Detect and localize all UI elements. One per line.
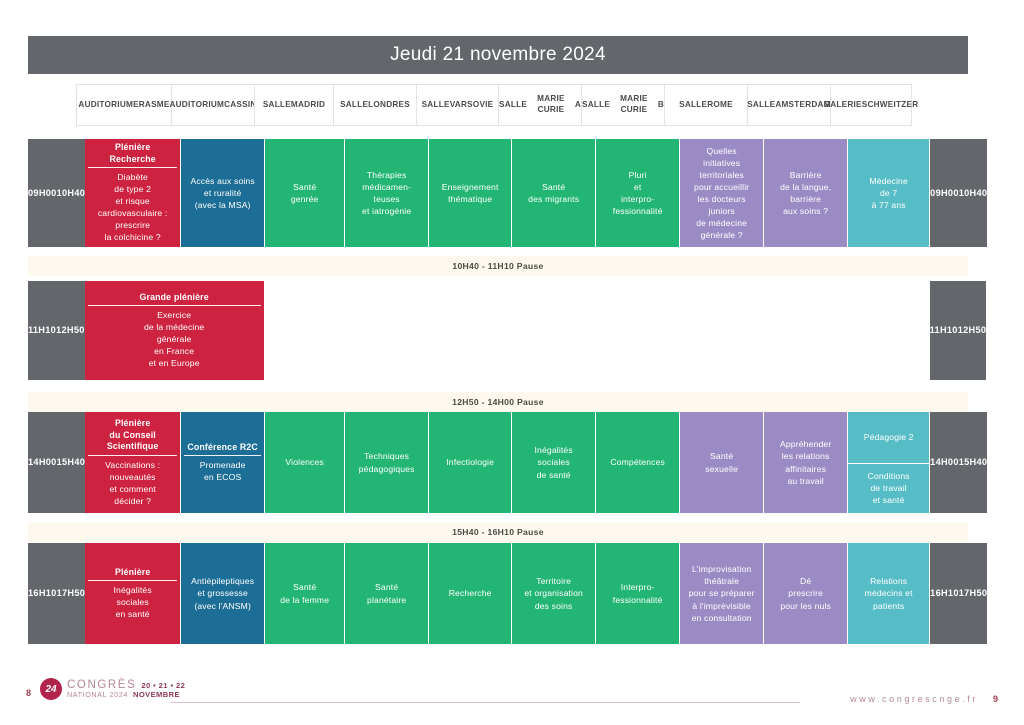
session-content: Infectiologie	[432, 456, 508, 468]
session-title: Interpro-fessionnalité	[599, 581, 676, 605]
session-cell[interactable]: Relationsmédecins etpatients	[848, 543, 930, 644]
room-header-line: AUDITORIUM	[78, 100, 133, 111]
session-cell-empty	[680, 281, 764, 380]
time-label-right: 11H1012H50	[930, 281, 987, 380]
session-content: Quellesinitiativesterritorialespour accu…	[683, 145, 760, 241]
session-title: Diabètede type 2et risquecardiovasculair…	[88, 171, 177, 243]
session-cell[interactable]: Santéde la femme	[265, 543, 345, 644]
session-content: Conférence R2CPromenadeen ECOS	[184, 442, 261, 483]
time-start: 11H10	[930, 324, 958, 336]
time-start: 09H00	[28, 187, 57, 199]
session-content: Territoireet organisationdes soins	[515, 575, 592, 611]
session-cell[interactable]: Plénièredu ConseilScientifiqueVaccinatio…	[85, 412, 181, 513]
room-header-line: CASSIN	[224, 100, 256, 111]
session-title: Recherche	[432, 587, 508, 599]
time-label-right: 09H0010H40	[930, 139, 987, 247]
footer-divider	[170, 702, 800, 703]
schedule-row-3: 14H0015H40Plénièredu ConseilScientifique…	[28, 412, 968, 513]
session-content: Thérapiesmédicamen-teuseset iatrogénie	[348, 169, 425, 217]
session-title: L'improvisationthéâtralepour se préparer…	[683, 563, 760, 623]
session-cell[interactable]: Infectiologie	[429, 412, 512, 513]
session-title: Territoireet organisationdes soins	[515, 575, 592, 611]
session-title: Pédagogie 2	[864, 431, 914, 443]
time-end: 15H40	[57, 456, 86, 468]
footer: 8 24 CONGRÈS 20 • 21 • 22 NATIONAL 2024 …	[0, 672, 1024, 725]
session-subcell[interactable]: Pédagogie 2	[848, 412, 929, 463]
website-link[interactable]: www.congrescnge.fr	[850, 694, 978, 704]
time-start: 11H10	[28, 324, 56, 336]
session-title: Plurietinterpro-fessionnalité	[599, 169, 676, 217]
session-content: Accès aux soinset ruralité(avec la MSA)	[184, 175, 261, 211]
room-header-2: AUDITORIUMCASSIN	[171, 84, 255, 126]
session-title: Antiépileptiqueset grossesse(avec l'ANSM…	[184, 575, 261, 611]
room-header-line: SALLE	[263, 100, 291, 111]
time-end: 10H40	[959, 187, 988, 199]
session-title: Santéplanétaire	[348, 581, 425, 605]
session-cell-empty	[764, 281, 848, 380]
session-title: Violences	[268, 456, 341, 468]
session-title: Médecinede 7à 77 ans	[851, 175, 926, 211]
session-cell[interactable]: Inégalitéssocialesde santé	[512, 412, 596, 513]
session-title: Compétences	[599, 456, 676, 468]
room-header-10: GALERIESCHWEITZER	[830, 84, 912, 126]
time-end: 17H50	[57, 587, 86, 599]
session-title: Enseignementthématique	[432, 181, 508, 205]
page-number-right: 9	[993, 694, 998, 704]
room-header-3: SALLEMADRID	[254, 84, 334, 126]
session-title: Accès aux soinset ruralité(avec la MSA)	[184, 175, 261, 211]
session-cell[interactable]: Antiépileptiqueset grossesse(avec l'ANSM…	[181, 543, 265, 644]
time-start: 16H10	[28, 587, 57, 599]
time-label-left: 14H0015H40	[28, 412, 85, 513]
session-content: Appréhenderles relationsaffinitairesau t…	[767, 438, 844, 486]
session-content: Antiépileptiqueset grossesse(avec l'ANSM…	[184, 575, 261, 611]
session-cell[interactable]: Compétences	[596, 412, 680, 513]
session-content: Recherche	[432, 587, 508, 599]
congress-logo: 24 CONGRÈS 20 • 21 • 22 NATIONAL 2024 NO…	[40, 678, 185, 700]
schedule-page: Jeudi 21 novembre 2024 AUDITORIUMERASMEA…	[0, 0, 1024, 725]
time-end: 17H50	[959, 587, 988, 599]
room-header-line: LONDRES	[368, 100, 410, 111]
session-content: Barrièrede la langue,barrièreaux soins ?	[767, 169, 844, 217]
session-title: Conditionsde travailet santé	[868, 470, 910, 506]
session-title: Promenadeen ECOS	[184, 459, 261, 483]
session-content: Relationsmédecins etpatients	[851, 575, 926, 611]
room-header-4: SALLELONDRES	[333, 84, 417, 126]
session-content: Santésexuelle	[683, 450, 760, 474]
schedule-row-1: 09H0010H40PlénièreRechercheDiabètede typ…	[28, 139, 968, 247]
session-cell-empty	[848, 281, 930, 380]
session-title: Thérapiesmédicamen-teuseset iatrogénie	[348, 169, 425, 217]
room-header-8: SALLEROME	[664, 84, 748, 126]
room-header-line: SALLE	[582, 100, 610, 111]
room-header-line: MARIE CURIE	[610, 94, 658, 116]
time-start: 09H00	[930, 187, 959, 199]
session-content: Grande plénièreExercicede la médecinegén…	[88, 292, 261, 370]
session-content: PlénièreInégalitéssocialesen santé	[88, 567, 177, 621]
session-content: PlénièreRechercheDiabètede type 2et risq…	[88, 142, 177, 243]
session-content: Santéplanétaire	[348, 581, 425, 605]
day-title-bar: Jeudi 21 novembre 2024	[28, 36, 968, 74]
session-cell[interactable]: Thérapiesmédicamen-teuseset iatrogénie	[345, 139, 429, 247]
session-cell-empty	[265, 281, 345, 380]
session-content: Enseignementthématique	[432, 181, 508, 205]
session-title: Techniquespédagogiques	[348, 450, 425, 474]
session-cell[interactable]: Techniquespédagogiques	[345, 412, 429, 513]
session-title: Santésexuelle	[683, 450, 760, 474]
session-content: Santédes migrants	[515, 181, 592, 205]
time-end: 10H40	[57, 187, 86, 199]
session-cell[interactable]: Enseignementthématique	[429, 139, 512, 247]
session-content: Déprescrirepour les nuls	[767, 575, 844, 611]
room-header-line: SCHWEITZER	[862, 100, 919, 111]
room-header-line: VARSOVIE	[450, 100, 494, 111]
session-cell[interactable]: Quellesinitiativesterritorialespour accu…	[680, 139, 764, 247]
session-title: Infectiologie	[432, 456, 508, 468]
session-cell[interactable]: Barrièrede la langue,barrièreaux soins ?	[764, 139, 848, 247]
room-header-5: SALLEVARSOVIE	[416, 84, 499, 126]
page-title: Jeudi 21 novembre 2024	[390, 44, 606, 66]
session-cell[interactable]: L'improvisationthéâtralepour se préparer…	[680, 543, 764, 644]
session-title: Relationsmédecins etpatients	[851, 575, 926, 611]
pause-label: 12H50 - 14H00 Pause	[452, 397, 544, 407]
session-type-label: Plénièredu ConseilScientifique	[88, 418, 177, 455]
session-cell-empty	[596, 281, 680, 380]
room-header-line: SALLE	[747, 100, 775, 111]
logo-month-label: NOVEMBRE	[133, 691, 180, 699]
session-cell[interactable]: Santégenrée	[265, 139, 345, 247]
session-cell[interactable]: Accès aux soinset ruralité(avec la MSA)	[181, 139, 265, 247]
session-title: Vaccinations :nouveautéset commentdécide…	[88, 459, 177, 507]
room-header-line: MARIE CURIE	[527, 94, 575, 116]
pause-label: 15H40 - 16H10 Pause	[452, 527, 544, 537]
session-cell[interactable]: Interpro-fessionnalité	[596, 543, 680, 644]
time-label-right: 16H1017H50	[930, 543, 987, 644]
page-number-left: 8	[26, 688, 31, 698]
room-header-line: AMSTERDAM	[775, 100, 830, 111]
session-content: Médecinede 7à 77 ans	[851, 175, 926, 211]
logo-national-label: NATIONAL 2024	[67, 691, 128, 699]
session-cell[interactable]: Conférence R2CPromenadeen ECOS	[181, 412, 265, 513]
room-header-line: GALERIE	[824, 100, 862, 111]
session-content: L'improvisationthéâtralepour se préparer…	[683, 563, 760, 623]
session-cell[interactable]: Pédagogie 2Conditionsde travailet santé	[848, 412, 930, 513]
session-cell-empty	[345, 281, 429, 380]
session-content: Violences	[268, 456, 341, 468]
time-end: 12H50	[56, 324, 85, 336]
session-content: Inégalitéssocialesde santé	[515, 444, 592, 480]
session-content: Plénièredu ConseilScientifiqueVaccinatio…	[88, 418, 177, 506]
session-cell[interactable]: Recherche	[429, 543, 512, 644]
room-header-line: AUDITORIUM	[169, 100, 224, 111]
session-content: Interpro-fessionnalité	[599, 581, 676, 605]
session-content: Compétences	[599, 456, 676, 468]
room-header-7: SALLEMARIE CURIEB	[581, 84, 665, 126]
session-title: Santédes migrants	[515, 181, 592, 205]
room-header-1: AUDITORIUMERASME	[76, 84, 172, 126]
session-title: Inégalitéssocialesde santé	[515, 444, 592, 480]
room-header-line: ERASME	[133, 100, 170, 111]
session-title: Quellesinitiativesterritorialespour accu…	[683, 145, 760, 241]
session-type-label: Conférence R2C	[184, 442, 261, 456]
time-start: 16H10	[930, 587, 959, 599]
pause-row-1: 10H40 - 11H10 Pause	[28, 256, 968, 276]
session-cell-empty	[429, 281, 512, 380]
session-cell[interactable]: PlénièreInégalitéssocialesen santé	[85, 543, 181, 644]
room-header-line: SALLE	[340, 100, 368, 111]
session-subcell[interactable]: Conditionsde travailet santé	[848, 463, 929, 514]
pause-label: 10H40 - 11H10 Pause	[452, 261, 543, 271]
session-cell[interactable]: PlénièreRechercheDiabètede type 2et risq…	[85, 139, 181, 247]
session-cell[interactable]: Grande plénièreExercicede la médecinegén…	[85, 281, 265, 380]
time-label-left: 16H1017H50	[28, 543, 85, 644]
logo-badge: 24	[40, 678, 62, 700]
session-cell[interactable]: Santéplanétaire	[345, 543, 429, 644]
session-cell[interactable]: Territoireet organisationdes soins	[512, 543, 596, 644]
session-type-label: Grande plénière	[88, 292, 261, 306]
time-start: 14H00	[28, 456, 57, 468]
room-header-6: SALLEMARIE CURIEA	[498, 84, 582, 126]
room-header-line: SALLE	[679, 100, 707, 111]
room-header-9: SALLEAMSTERDAM	[747, 84, 831, 126]
session-title: Santéde la femme	[268, 581, 341, 605]
room-header-line: SALLE	[499, 100, 527, 111]
time-label-left: 11H1012H50	[28, 281, 85, 380]
pause-row-3: 15H40 - 16H10 Pause	[28, 522, 968, 542]
session-type-label: PlénièreRecherche	[88, 142, 177, 168]
time-label-right: 14H0015H40	[930, 412, 987, 513]
session-cell[interactable]: Santédes migrants	[512, 139, 596, 247]
session-content: Plurietinterpro-fessionnalité	[599, 169, 676, 217]
session-content: Santéde la femme	[268, 581, 341, 605]
logo-text: CONGRÈS 20 • 21 • 22 NATIONAL 2024 NOVEM…	[67, 679, 185, 699]
session-cell[interactable]: Santésexuelle	[680, 412, 764, 513]
time-start: 14H00	[930, 456, 959, 468]
session-title: Barrièrede la langue,barrièreaux soins ?	[767, 169, 844, 217]
schedule-row-2: 11H1012H50Grande plénièreExercicede la m…	[28, 281, 968, 380]
session-cell[interactable]: Médecinede 7à 77 ans	[848, 139, 930, 247]
session-title: Santégenrée	[268, 181, 341, 205]
session-title: Appréhenderles relationsaffinitairesau t…	[767, 438, 844, 486]
session-content: Techniquespédagogiques	[348, 450, 425, 474]
session-title: Inégalitéssocialesen santé	[88, 584, 177, 620]
session-title: Exercicede la médecinegénéraleen Francee…	[88, 309, 261, 369]
room-header-line: ROME	[707, 100, 733, 111]
time-label-left: 09H0010H40	[28, 139, 85, 247]
session-title: Déprescrirepour les nuls	[767, 575, 844, 611]
pause-row-2: 12H50 - 14H00 Pause	[28, 392, 968, 412]
session-cell[interactable]: Déprescrirepour les nuls	[764, 543, 848, 644]
time-end: 15H40	[959, 456, 988, 468]
time-end: 12H50	[958, 324, 987, 336]
room-header-line: MADRID	[291, 100, 325, 111]
session-cell[interactable]: Violences	[265, 412, 345, 513]
session-type-label: Plénière	[88, 567, 177, 581]
session-cell[interactable]: Plurietinterpro-fessionnalité	[596, 139, 680, 247]
logo-dates-label: 20 • 21 • 22	[141, 682, 185, 690]
room-header-line: SALLE	[422, 100, 450, 111]
session-cell[interactable]: Appréhenderles relationsaffinitairesau t…	[764, 412, 848, 513]
session-content: Santégenrée	[268, 181, 341, 205]
rooms-header-row: AUDITORIUMERASMEAUDITORIUMCASSINSALLEMAD…	[76, 84, 920, 126]
schedule-row-4: 16H1017H50PlénièreInégalitéssocialesen s…	[28, 543, 968, 644]
session-cell-empty	[512, 281, 596, 380]
